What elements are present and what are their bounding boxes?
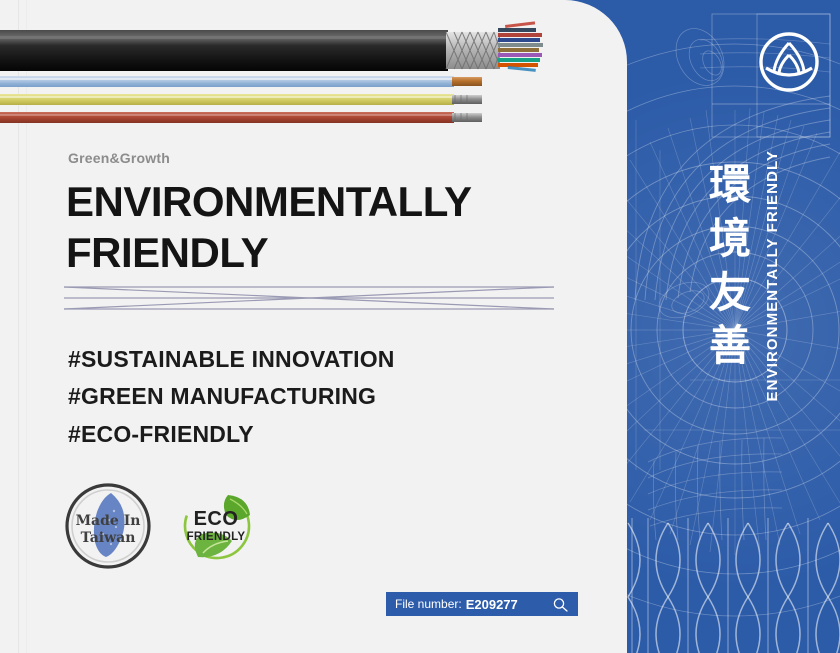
content-card: Green&Growth ENVIRONMENTALLY FRIENDLY #S… <box>0 0 627 653</box>
badge-text-line-2: Taiwan <box>81 530 136 546</box>
sidebar-english-title: ENVIRONMENTALLY FRIENDLY <box>764 150 782 401</box>
badge-text-line-1: ECO <box>194 508 239 530</box>
badge-text-line-1: Made In <box>76 513 141 529</box>
made-in-taiwan-badge: Made In Taiwan <box>64 482 152 575</box>
file-number-label: File number: <box>395 597 462 611</box>
company-circle-logo-icon <box>757 30 821 94</box>
headline-line-2: FRIENDLY <box>66 229 268 276</box>
cable-illustration <box>0 0 627 135</box>
hashtag-item: #ECO-FRIENDLY <box>68 416 395 453</box>
hashtag-list: #SUSTAINABLE INNOVATION #GREEN MANUFACTU… <box>68 341 395 453</box>
eyebrow-label: Green&Growth <box>68 150 170 166</box>
magnifier-icon[interactable] <box>552 597 569 612</box>
badge-text-line-2: FRIENDLY <box>187 531 246 543</box>
crossing-lines-motif-icon <box>64 276 554 320</box>
eco-friendly-icon: ECO FRIENDLY <box>176 485 258 567</box>
made-in-taiwan-icon: Made In Taiwan <box>64 482 152 570</box>
sidebar-chinese-title: 環境友善 <box>700 158 760 373</box>
hashtag-item: #SUSTAINABLE INNOVATION <box>68 341 395 378</box>
file-number-value: E209277 <box>466 597 518 612</box>
headline-line-1: ENVIRONMENTALLY <box>66 178 472 225</box>
certification-badges: Made In Taiwan ECO FRIENDLY <box>64 482 274 570</box>
eco-friendly-badge: ECO FRIENDLY <box>176 485 258 572</box>
file-number-bar[interactable]: File number: E209277 <box>386 592 578 616</box>
poster-canvas: 環境友善 ENVIRONMENTALLY FRIENDLY <box>0 0 840 653</box>
hashtag-item: #GREEN MANUFACTURING <box>68 378 395 415</box>
page-title: ENVIRONMENTALLY FRIENDLY <box>66 176 472 278</box>
